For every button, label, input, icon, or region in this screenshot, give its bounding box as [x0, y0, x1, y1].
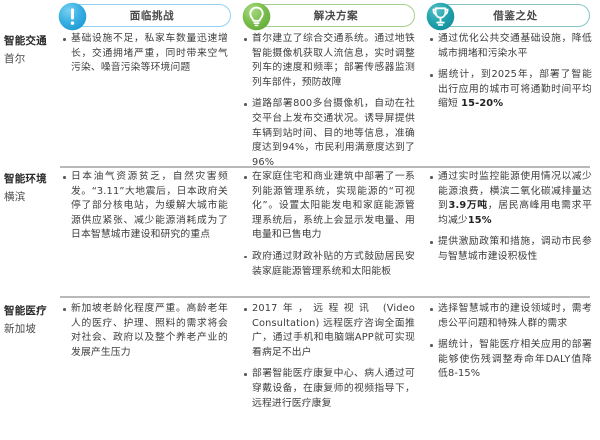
bullet-list: 通过优化公共交通基础设施，降低城市拥堵和污染水平 据统计，到2025年，部署了智… — [429, 32, 592, 112]
cell-solution: 2017年，远程视讯 (Video Consultation) 远程医疗咨询全面… — [243, 302, 415, 411]
bullet-list: 2017年，远程视讯 (Video Consultation) 远程医疗咨询全面… — [243, 302, 415, 411]
cell-challenge: 新加坡老龄化程度严重。高龄老年人的医疗、护理、照料的需求将会对社会、政府以及整个… — [62, 302, 228, 360]
row-label: 智能医疗 新加坡 — [4, 304, 58, 337]
cell-takeaway: 选择智慧城市的建设领域时，需考虑公平问题和特殊人群的需求 据统计，智能医疗相关应… — [429, 302, 592, 382]
list-item: 通过实时监控能源使用情况以减少能源浪费，横滨二氧化碳减排量达到3.9万吨，居民高… — [429, 170, 592, 228]
table-row: 智能环境 横滨 日本油气资源贫乏，自然灾害频发。“3.11”大地震后，日本政府关… — [0, 168, 600, 294]
row-category: 智能医疗 — [4, 304, 58, 319]
row-city: 横滨 — [4, 189, 58, 205]
row-city: 新加坡 — [4, 321, 58, 337]
trophy-icon — [426, 2, 455, 31]
bullet-list: 新加坡老龄化程度严重。高龄老年人的医疗、护理、照料的需求将会对社会、政府以及整个… — [62, 302, 228, 360]
list-item: 道路部署800多台摄像机，自动在社交平台上发布交通状况。诱导屏提供车辆到站时间、… — [243, 97, 415, 170]
list-item: 提供激励政策和措施，调动市民参与智慧城市建设积极性 — [429, 235, 592, 264]
row-category: 智能交通 — [4, 34, 58, 49]
column-header-solution: 解决方案 — [243, 4, 415, 27]
column-header-takeaway: 借鉴之处 — [427, 4, 590, 27]
table-row: 智能交通 首尔 基础设施不足，私家车数量迅速增长，交通拥堵严重，同时带来空气污染… — [0, 30, 600, 162]
bullet-list: 在家庭住宅和商业建筑中部署了一系列能源管理系统，实现能源的“可视化”。设置太阳能… — [243, 170, 415, 279]
highlight-value: 3.9万吨 — [448, 200, 487, 211]
cell-takeaway: 通过实时监控能源使用情况以减少能源浪费，横滨二氧化碳减排量达到3.9万吨，居民高… — [429, 170, 592, 265]
list-item: 在家庭住宅和商业建筑中部署了一系列能源管理系统，实现能源的“可视化”。设置太阳能… — [243, 170, 415, 243]
cell-solution: 在家庭住宅和商业建筑中部署了一系列能源管理系统，实现能源的“可视化”。设置太阳能… — [243, 170, 415, 279]
list-item: 政府通过财政补贴的方式鼓励居民安装家庭能源管理系统和太阳能板 — [243, 250, 415, 279]
list-item: 据统计，智能医疗相关应用的部署能够使伤残调整寿命年DALY值降低8-15% — [429, 338, 592, 382]
bullet-list: 选择智慧城市的建设领域时，需考虑公平问题和特殊人群的需求 据统计，智能医疗相关应… — [429, 302, 592, 382]
list-item: 基础设施不足，私家车数量迅速增长，交通拥堵严重，同时带来空气污染、噪音污染等环境… — [62, 32, 228, 76]
bullet-list: 日本油气资源贫乏，自然灾害频发。“3.11”大地震后，日本政府关停了部分核电站，… — [62, 170, 228, 243]
list-item: 部署智能医疗康复中心、病人通过可穿戴设备，在康复师的视频指导下，远程进行医疗康复 — [243, 367, 415, 411]
exclamation-icon — [58, 2, 87, 31]
bullet-list: 基础设施不足，私家车数量迅速增长，交通拥堵严重，同时带来空气污染、噪音污染等环境… — [62, 32, 228, 76]
bullet-list: 首尔建立了综合交通系统。通过地铁智能摄像机获取人流信息，实时调整列车的速度和频率… — [243, 32, 415, 170]
row-label: 智能环境 横滨 — [4, 172, 58, 205]
list-item: 通过优化公共交通基础设施，降低城市拥堵和污染水平 — [429, 32, 592, 61]
list-item: 据统计，到2025年，部署了智能出行应用的城市可将通勤时间平均缩短 15-20% — [429, 68, 592, 112]
list-item: 2017年，远程视讯 (Video Consultation) 远程医疗咨询全面… — [243, 302, 415, 360]
cell-takeaway: 通过优化公共交通基础设施，降低城市拥堵和污染水平 据统计，到2025年，部署了智… — [429, 32, 592, 112]
list-item: 日本油气资源贫乏，自然灾害频发。“3.11”大地震后，日本政府关停了部分核电站，… — [62, 170, 228, 243]
list-item: 新加坡老龄化程度严重。高龄老年人的医疗、护理、照料的需求将会对社会、政府以及整个… — [62, 302, 228, 360]
comparison-table: 面临挑战 解决方案 — [0, 0, 600, 440]
highlight-value: 15-20% — [461, 98, 503, 109]
list-item: 首尔建立了综合交通系统。通过地铁智能摄像机获取人流信息，实时调整列车的速度和频率… — [243, 32, 415, 90]
table-header-row: 面临挑战 解决方案 — [0, 0, 600, 30]
table-row: 智能医疗 新加坡 新加坡老龄化程度严重。高龄老年人的医疗、护理、照料的需求将会对… — [0, 300, 600, 440]
row-city: 首尔 — [4, 51, 58, 67]
row-category: 智能环境 — [4, 172, 58, 187]
row-separator — [60, 296, 590, 298]
highlight-value: 15% — [468, 215, 492, 226]
column-header-challenge: 面临挑战 — [59, 4, 231, 27]
cell-challenge: 基础设施不足，私家车数量迅速增长，交通拥堵严重，同时带来空气污染、噪音污染等环境… — [62, 32, 228, 76]
list-item: 选择智慧城市的建设领域时，需考虑公平问题和特殊人群的需求 — [429, 302, 592, 331]
cell-challenge: 日本油气资源贫乏，自然灾害频发。“3.11”大地震后，日本政府关停了部分核电站，… — [62, 170, 228, 243]
lightbulb-icon — [242, 2, 271, 31]
row-label: 智能交通 首尔 — [4, 34, 58, 67]
bullet-list: 通过实时监控能源使用情况以减少能源浪费，横滨二氧化碳减排量达到3.9万吨，居民高… — [429, 170, 592, 265]
cell-solution: 首尔建立了综合交通系统。通过地铁智能摄像机获取人流信息，实时调整列车的速度和频率… — [243, 32, 415, 170]
